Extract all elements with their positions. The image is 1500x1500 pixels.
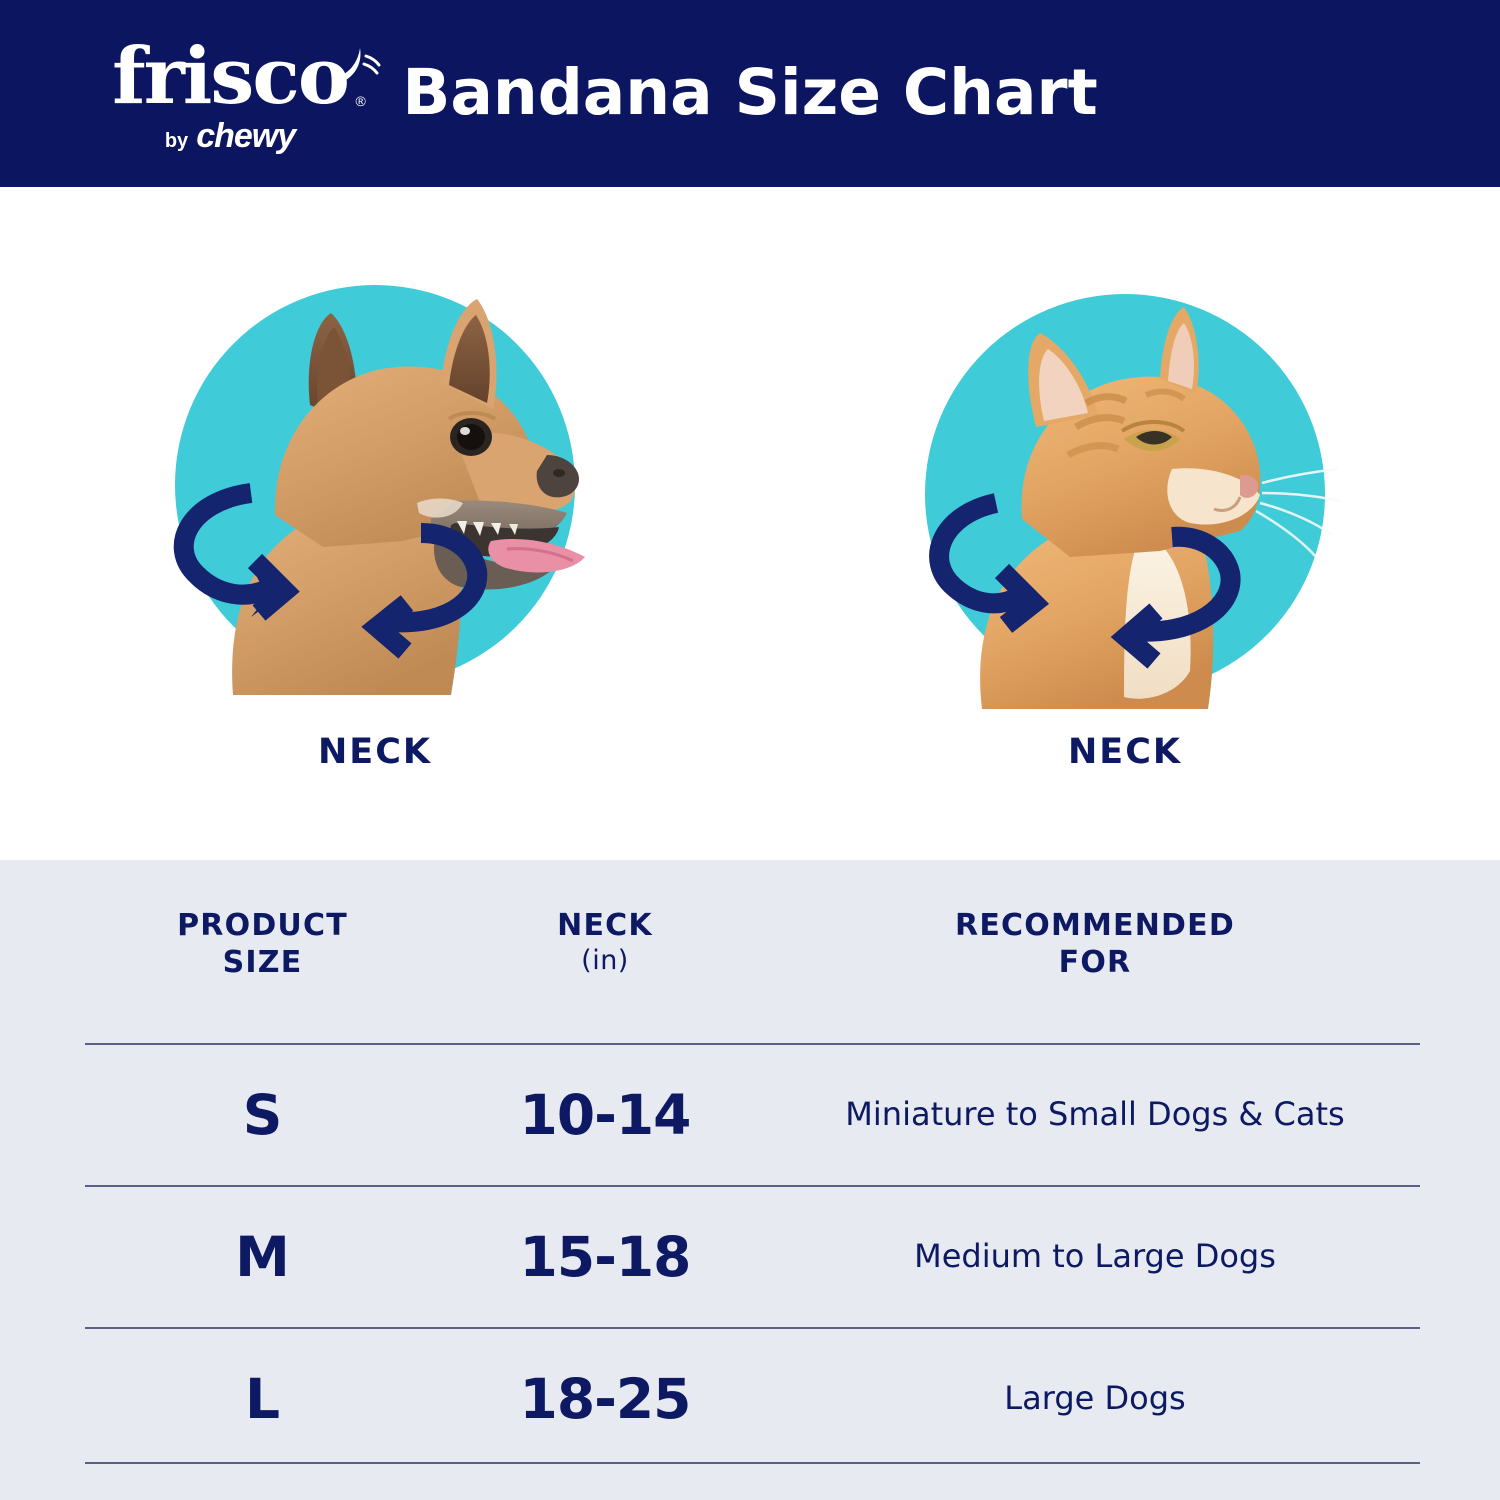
row-neck-value: 10-14 bbox=[440, 1044, 770, 1186]
brand-by-label: by bbox=[165, 130, 188, 153]
table-row: S 10-14 Miniature to Small Dogs & Cats bbox=[85, 1044, 1420, 1186]
row-neck-value: 15-18 bbox=[440, 1186, 770, 1328]
table-row: L 18-25 Large Dogs bbox=[85, 1328, 1420, 1469]
column-header-recommended-for-line2: FOR bbox=[1059, 945, 1132, 980]
dog-illustration bbox=[155, 265, 595, 705]
column-header-recommended-for: RECOMMENDED FOR bbox=[770, 860, 1420, 1044]
row-size-value: L bbox=[85, 1328, 440, 1469]
dog-neck-measure-arrow-icon bbox=[155, 265, 595, 705]
illustration-band: NECK bbox=[0, 187, 1500, 860]
row-size-value: M bbox=[85, 1186, 440, 1328]
cat-neck-label: NECK bbox=[1068, 732, 1182, 772]
row-recommended-value: Large Dogs bbox=[770, 1328, 1420, 1469]
size-chart-table: PRODUCT SIZE NECK (in) RECOMMENDED FOR S bbox=[85, 860, 1420, 1469]
column-header-neck-line1: NECK bbox=[557, 908, 653, 943]
cat-neck-measure-arrow-icon bbox=[910, 279, 1340, 709]
page-title: Bandana Size Chart bbox=[0, 56, 1500, 129]
column-header-neck-unit: (in) bbox=[440, 945, 770, 978]
column-header-product-size: PRODUCT SIZE bbox=[85, 860, 440, 1044]
row-recommended-value: Medium to Large Dogs bbox=[770, 1186, 1420, 1328]
row-neck-value: 18-25 bbox=[440, 1328, 770, 1469]
size-table-section: PRODUCT SIZE NECK (in) RECOMMENDED FOR S bbox=[0, 860, 1500, 1500]
table-body: S 10-14 Miniature to Small Dogs & Cats M… bbox=[85, 1044, 1420, 1469]
header-bar: frisco ® by chewy Bandana Size Chart bbox=[0, 0, 1500, 187]
table-header-row: PRODUCT SIZE NECK (in) RECOMMENDED FOR bbox=[85, 860, 1420, 1044]
row-size-value: S bbox=[85, 1044, 440, 1186]
table-row: M 15-18 Medium to Large Dogs bbox=[85, 1186, 1420, 1328]
table-bottom-divider bbox=[85, 1462, 1420, 1464]
column-header-product-size-line1: PRODUCT bbox=[177, 908, 348, 943]
cat-measurement-panel: NECK bbox=[750, 187, 1500, 860]
dog-neck-label: NECK bbox=[318, 732, 432, 772]
column-header-product-size-line2: SIZE bbox=[223, 945, 303, 980]
row-recommended-value: Miniature to Small Dogs & Cats bbox=[770, 1044, 1420, 1186]
dog-measurement-panel: NECK bbox=[0, 187, 750, 860]
bandana-size-chart-page: frisco ® by chewy Bandana Size Chart bbox=[0, 0, 1500, 1500]
cat-illustration bbox=[910, 279, 1340, 709]
column-header-recommended-for-line1: RECOMMENDED bbox=[955, 908, 1235, 943]
table-head: PRODUCT SIZE NECK (in) RECOMMENDED FOR bbox=[85, 860, 1420, 1044]
column-header-neck: NECK (in) bbox=[440, 860, 770, 1044]
